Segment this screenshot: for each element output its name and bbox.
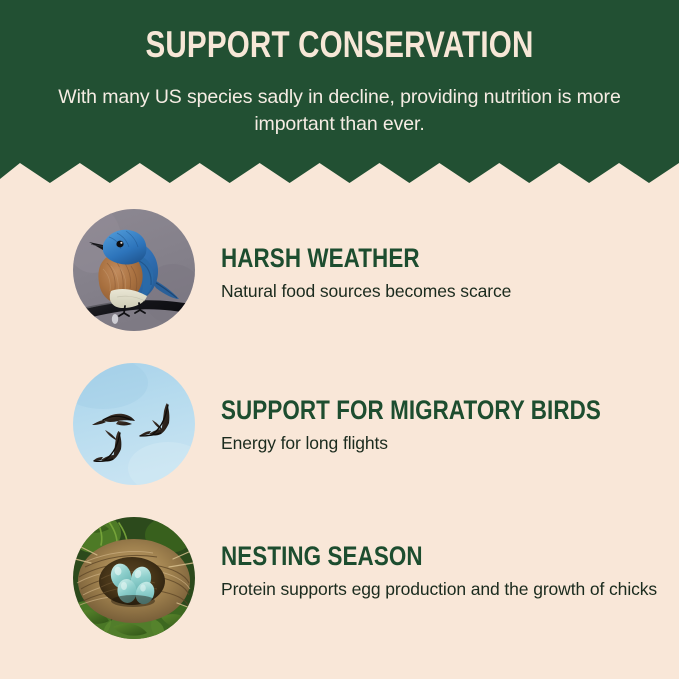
feature-text-block: NESTING SEASON Protein supports egg prod… [221, 541, 661, 602]
bluebird-perched-on-branch-photo [73, 209, 195, 331]
feature-title: HARSH WEATHER [221, 243, 586, 273]
header-subtitle: With many US species sadly in decline, p… [50, 84, 629, 138]
birds-flying-in-sky-photo [73, 363, 195, 485]
conservation-infographic: SUPPORT CONSERVATION With many US specie… [0, 0, 679, 679]
feature-description: Energy for long flights [221, 430, 661, 456]
feature-text-block: SUPPORT FOR MIGRATORY BIRDS Energy for l… [221, 395, 661, 456]
feature-description: Protein supports egg production and the … [221, 576, 661, 602]
feature-title: NESTING SEASON [221, 541, 586, 571]
feature-text-block: HARSH WEATHER Natural food sources becom… [221, 243, 661, 304]
feature-description: Natural food sources becomes scarce [221, 278, 661, 304]
page-title: SUPPORT CONSERVATION [68, 23, 611, 67]
nest-with-blue-eggs-photo [73, 517, 195, 639]
feature-title: SUPPORT FOR MIGRATORY BIRDS [221, 395, 586, 425]
